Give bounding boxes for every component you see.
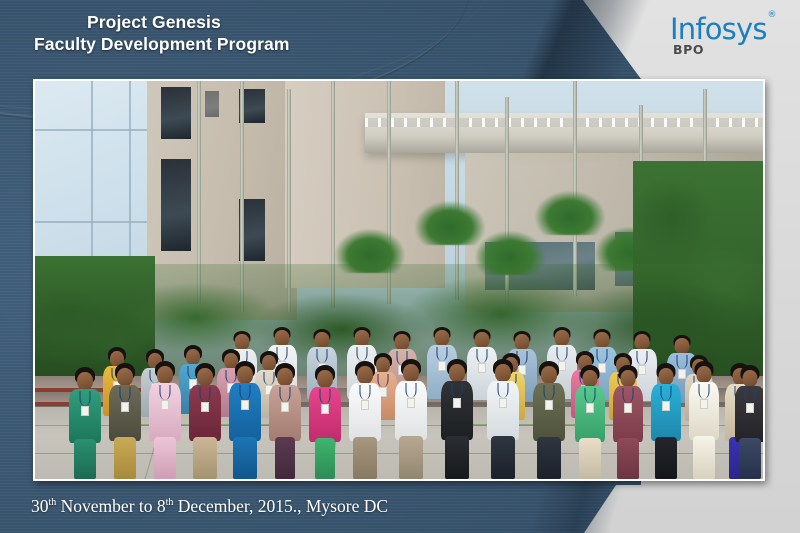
infosys-wordmark-text: Infosys [670,12,767,46]
photo-person [575,365,605,479]
photo-scene [35,81,763,479]
photo-person [651,363,681,479]
infosys-bpo-logo: Infosys ® BPO [670,14,774,57]
photo-person [689,361,719,479]
caption-end: December, 2015., Mysore DC [173,496,388,516]
slide-caption: 30th November to 8th December, 2015., My… [31,495,388,517]
photo-person [269,363,301,479]
photo-person [395,359,427,479]
photo-person [109,363,141,479]
slide-title-line-2: Faculty Development Program [30,33,500,55]
group-photo [35,81,763,479]
photo-person [189,363,221,479]
registered-trademark-icon: ® [767,11,775,20]
presentation-slide: Project Genesis Faculty Development Prog… [0,0,800,533]
photo-person [441,359,473,479]
photo-person [149,361,181,479]
photo-person [229,361,261,479]
caption-day-first: 30 [31,496,49,516]
photo-person [613,365,643,479]
photo-person [533,361,565,479]
photo-person [487,359,519,479]
photo-person [69,367,101,479]
infosys-wordmark: Infosys ® [670,14,767,44]
photo-person [735,365,763,479]
slide-title-block: Project Genesis Faculty Development Prog… [30,11,500,55]
slide-title-line-1: Project Genesis [30,11,500,33]
caption-middle: November to 8 [56,496,165,516]
photo-person [309,365,341,479]
group-photo-frame [33,79,765,481]
photo-person [349,361,381,479]
